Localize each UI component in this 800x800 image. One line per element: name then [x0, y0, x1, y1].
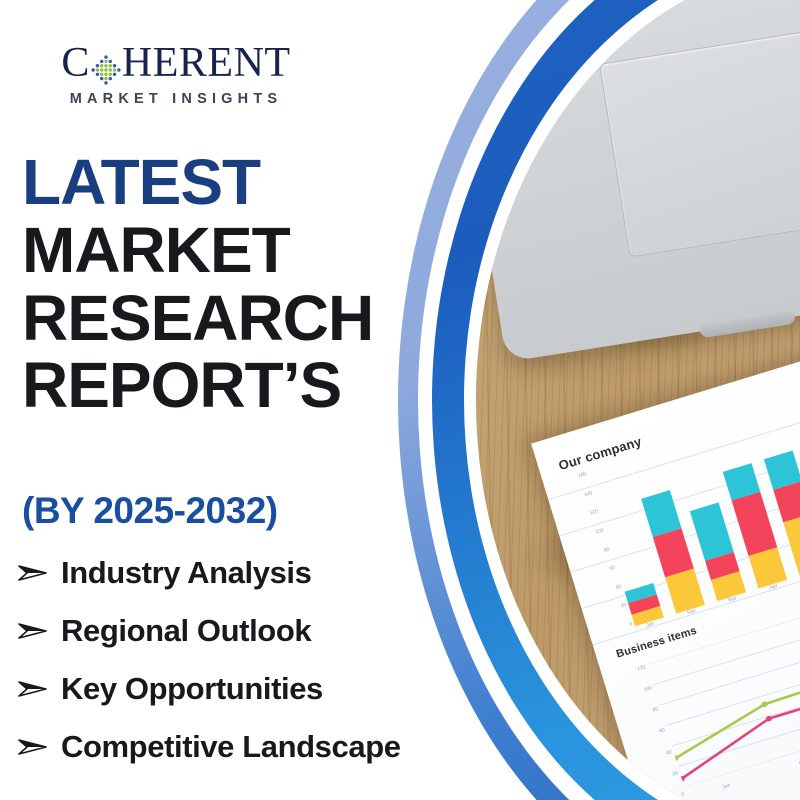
y-tick: 120 — [637, 665, 646, 672]
y-tick: 80 — [603, 547, 610, 553]
bullet-label: Key Opportunities — [61, 671, 323, 707]
headline-line-3: RESEARCH — [22, 288, 442, 349]
logo-letters-herent: HERENT — [122, 42, 291, 84]
y-tick: 20 — [672, 771, 679, 777]
laptop-trackpad — [599, 28, 800, 258]
coherent-market-insights-logo: C HERENT MARKET INSIGHTS — [48, 42, 304, 107]
globe-dotted-icon — [91, 51, 121, 81]
y-tick: 60 — [659, 729, 666, 735]
bullet-item: Key Opportunities — [18, 671, 488, 707]
arrow-bullet-icon — [18, 678, 48, 700]
y-tick: 20 — [621, 603, 628, 609]
y-tick: 160 — [578, 472, 587, 479]
y-tick: 40 — [665, 750, 672, 756]
y-tick: 80 — [653, 707, 660, 713]
bullet-item: Competitive Landscape — [18, 729, 488, 765]
bar-segment-yellow — [783, 514, 800, 576]
feature-bullet-list: Industry AnalysisRegional OutlookKey Opp… — [18, 555, 488, 787]
logo-tagline: MARKET INSIGHTS — [48, 91, 304, 107]
promotional-banner: V B N ⌘ command option Our company — [0, 0, 800, 800]
bullet-item: Industry Analysis — [18, 555, 488, 591]
y-tick: 100 — [643, 686, 652, 693]
bar-segment-red — [732, 492, 778, 556]
year-range-subtitle: (BY 2025-2032) — [22, 490, 278, 532]
arrow-bullet-icon — [18, 620, 48, 642]
y-tick: 120 — [589, 509, 598, 516]
y-tick: 0 — [681, 792, 685, 798]
arrow-bullet-icon — [18, 736, 48, 758]
page-title: LATEST MARKET RESEARCH REPORT’S — [22, 152, 442, 423]
y-tick: 100 — [595, 528, 604, 535]
bullet-label: Regional Outlook — [61, 613, 311, 649]
y-tick: 0 — [629, 622, 633, 628]
hero-photo: V B N ⌘ command option Our company — [476, 0, 800, 800]
logo-letter-c: C — [61, 42, 90, 84]
headline-line-2: MARKET — [22, 220, 442, 281]
headline-line-1: LATEST — [22, 152, 442, 213]
headline-line-4: REPORT’S — [22, 355, 442, 416]
bullet-label: Competitive Landscape — [61, 729, 401, 765]
bullet-item: Regional Outlook — [18, 613, 488, 649]
laptop-computer: V B N ⌘ command option — [476, 0, 800, 362]
bar-segment-cyan — [690, 502, 734, 560]
arrow-bullet-icon — [18, 562, 48, 584]
y-tick: 60 — [609, 566, 616, 572]
text-column: C HERENT MARKET INSIGHTS LATEST MARKET R… — [0, 0, 470, 800]
y-tick: 40 — [615, 584, 622, 590]
key-v: V — [476, 0, 517, 1]
bullet-label: Industry Analysis — [61, 555, 311, 591]
logo-wordmark: C HERENT — [48, 42, 304, 84]
y-tick: 140 — [584, 491, 593, 498]
